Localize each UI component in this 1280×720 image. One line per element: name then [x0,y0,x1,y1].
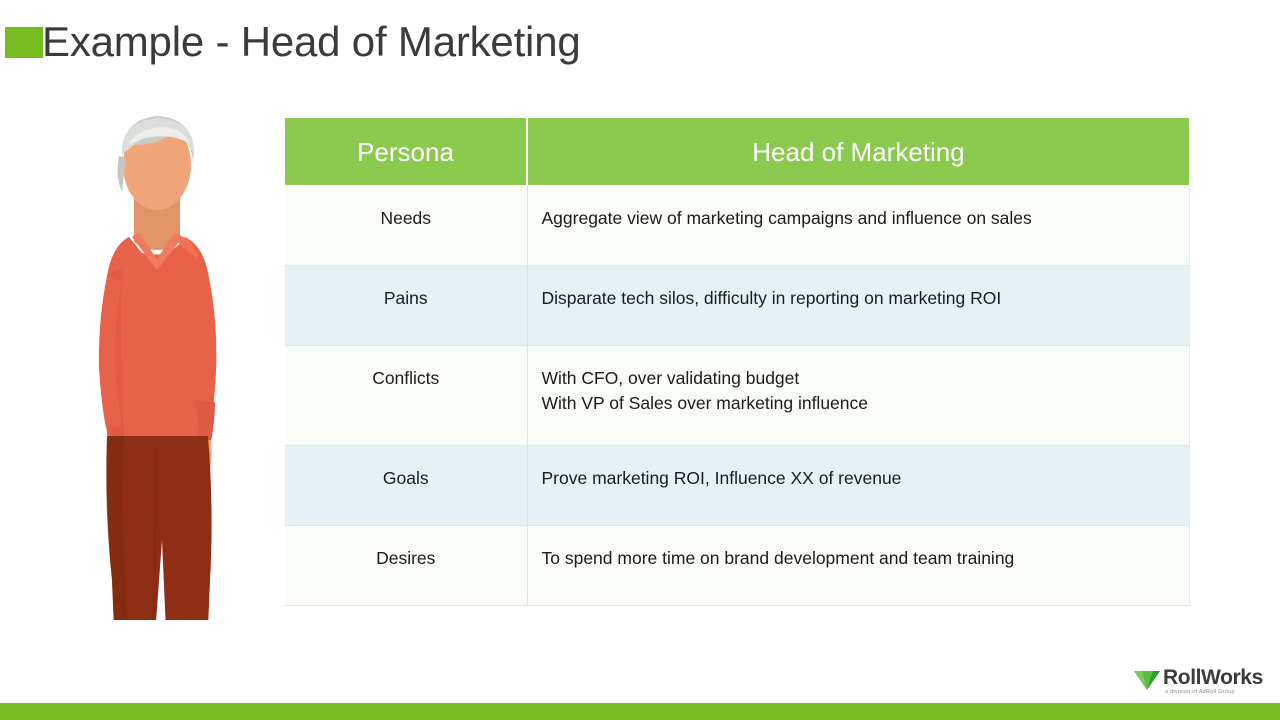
table-header: Persona Head of Marketing [285,118,1189,186]
row-label-needs: Needs [285,186,527,266]
row-label-goals: Goals [285,446,527,526]
table-row: Needs Aggregate view of marketing campai… [285,186,1189,266]
table-header-persona: Persona [285,118,527,186]
row-value-pains: Disparate tech silos, difficulty in repo… [527,266,1189,346]
row-label-conflicts: Conflicts [285,346,527,446]
page-title: Example - Head of Marketing [42,14,581,70]
rollworks-tagline: a division of AdRoll Group [1165,689,1235,696]
bottom-accent-bar [0,703,1280,720]
value-line: Prove marketing ROI, Influence XX of rev… [542,466,1171,491]
table-row: Pains Disparate tech silos, difficulty i… [285,266,1189,346]
title-accent-square [5,27,43,58]
table-row: Desires To spend more time on brand deve… [285,526,1189,606]
table-row: Conflicts With CFO, over validating budg… [285,346,1189,446]
table-header-head-of-marketing: Head of Marketing [527,118,1189,186]
rollworks-wordmark: RollWorks [1163,666,1263,690]
value-line: To spend more time on brand development … [542,546,1171,571]
persona-figure-svg [82,110,232,620]
value-line: With CFO, over validating budget [542,366,1171,391]
row-value-needs: Aggregate view of marketing campaigns an… [527,186,1189,266]
value-line: With VP of Sales over marketing influenc… [542,391,1171,416]
table-header-row: Persona Head of Marketing [285,118,1189,186]
row-value-desires: To spend more time on brand development … [527,526,1189,606]
value-line: Aggregate view of marketing campaigns an… [542,206,1171,231]
persona-woman-illustration [82,110,232,620]
row-label-desires: Desires [285,526,527,606]
row-label-pains: Pains [285,266,527,346]
row-value-conflicts: With CFO, over validating budget With VP… [527,346,1189,446]
persona-table: Persona Head of Marketing Needs Aggregat… [285,118,1190,606]
value-line: Disparate tech silos, difficulty in repo… [542,286,1171,311]
slide-title-bar: Example - Head of Marketing [0,0,1280,92]
row-value-goals: Prove marketing ROI, Influence XX of rev… [527,446,1189,526]
rollworks-triangle-icon [1133,669,1161,691]
rollworks-logo: RollWorks a division of AdRoll Group [1133,666,1273,700]
table-row: Goals Prove marketing ROI, Influence XX … [285,446,1189,526]
table-body: Needs Aggregate view of marketing campai… [285,186,1189,606]
